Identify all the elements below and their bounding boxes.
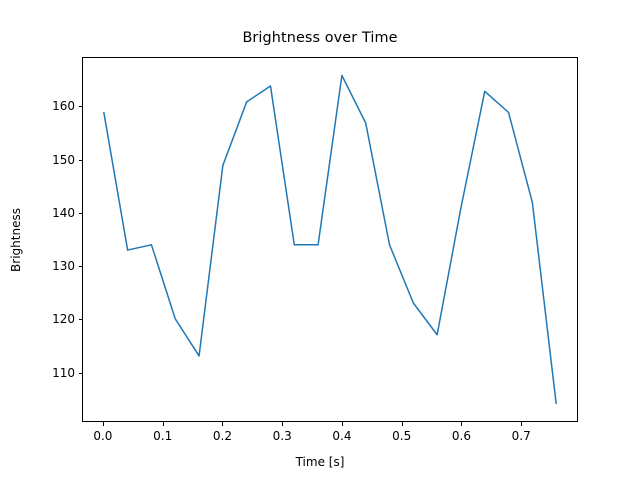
y-tick-label: 130 (52, 259, 75, 273)
x-tick-label: 0.3 (273, 429, 292, 443)
chart-title: Brightness over Time (0, 30, 640, 46)
x-tick-mark (103, 422, 104, 426)
x-tick-label: 0.1 (153, 429, 172, 443)
x-tick-mark (282, 422, 283, 426)
brightness-series-line (104, 75, 556, 403)
x-tick-mark (342, 422, 343, 426)
x-tick-label: 0.0 (93, 429, 112, 443)
y-tick-label: 140 (52, 206, 75, 220)
x-tick-label: 0.7 (512, 429, 531, 443)
x-axis-label: Time [s] (0, 455, 640, 469)
y-tick-label: 160 (52, 99, 75, 113)
x-tick-mark (521, 422, 522, 426)
chart-figure: Brightness over Time Brightness Time [s]… (0, 0, 640, 480)
x-tick-mark (163, 422, 164, 426)
x-tick-label: 0.5 (392, 429, 411, 443)
x-tick-mark (222, 422, 223, 426)
y-axis-label: Brightness (9, 208, 23, 272)
x-tick-mark (402, 422, 403, 426)
data-line-svg (83, 58, 577, 421)
x-tick-label: 0.6 (452, 429, 471, 443)
x-tick-label: 0.2 (213, 429, 232, 443)
plot-area (82, 57, 578, 422)
x-tick-label: 0.4 (332, 429, 351, 443)
y-tick-label: 150 (52, 153, 75, 167)
y-tick-label: 120 (52, 312, 75, 326)
x-tick-mark (461, 422, 462, 426)
y-tick-label: 110 (52, 366, 75, 380)
